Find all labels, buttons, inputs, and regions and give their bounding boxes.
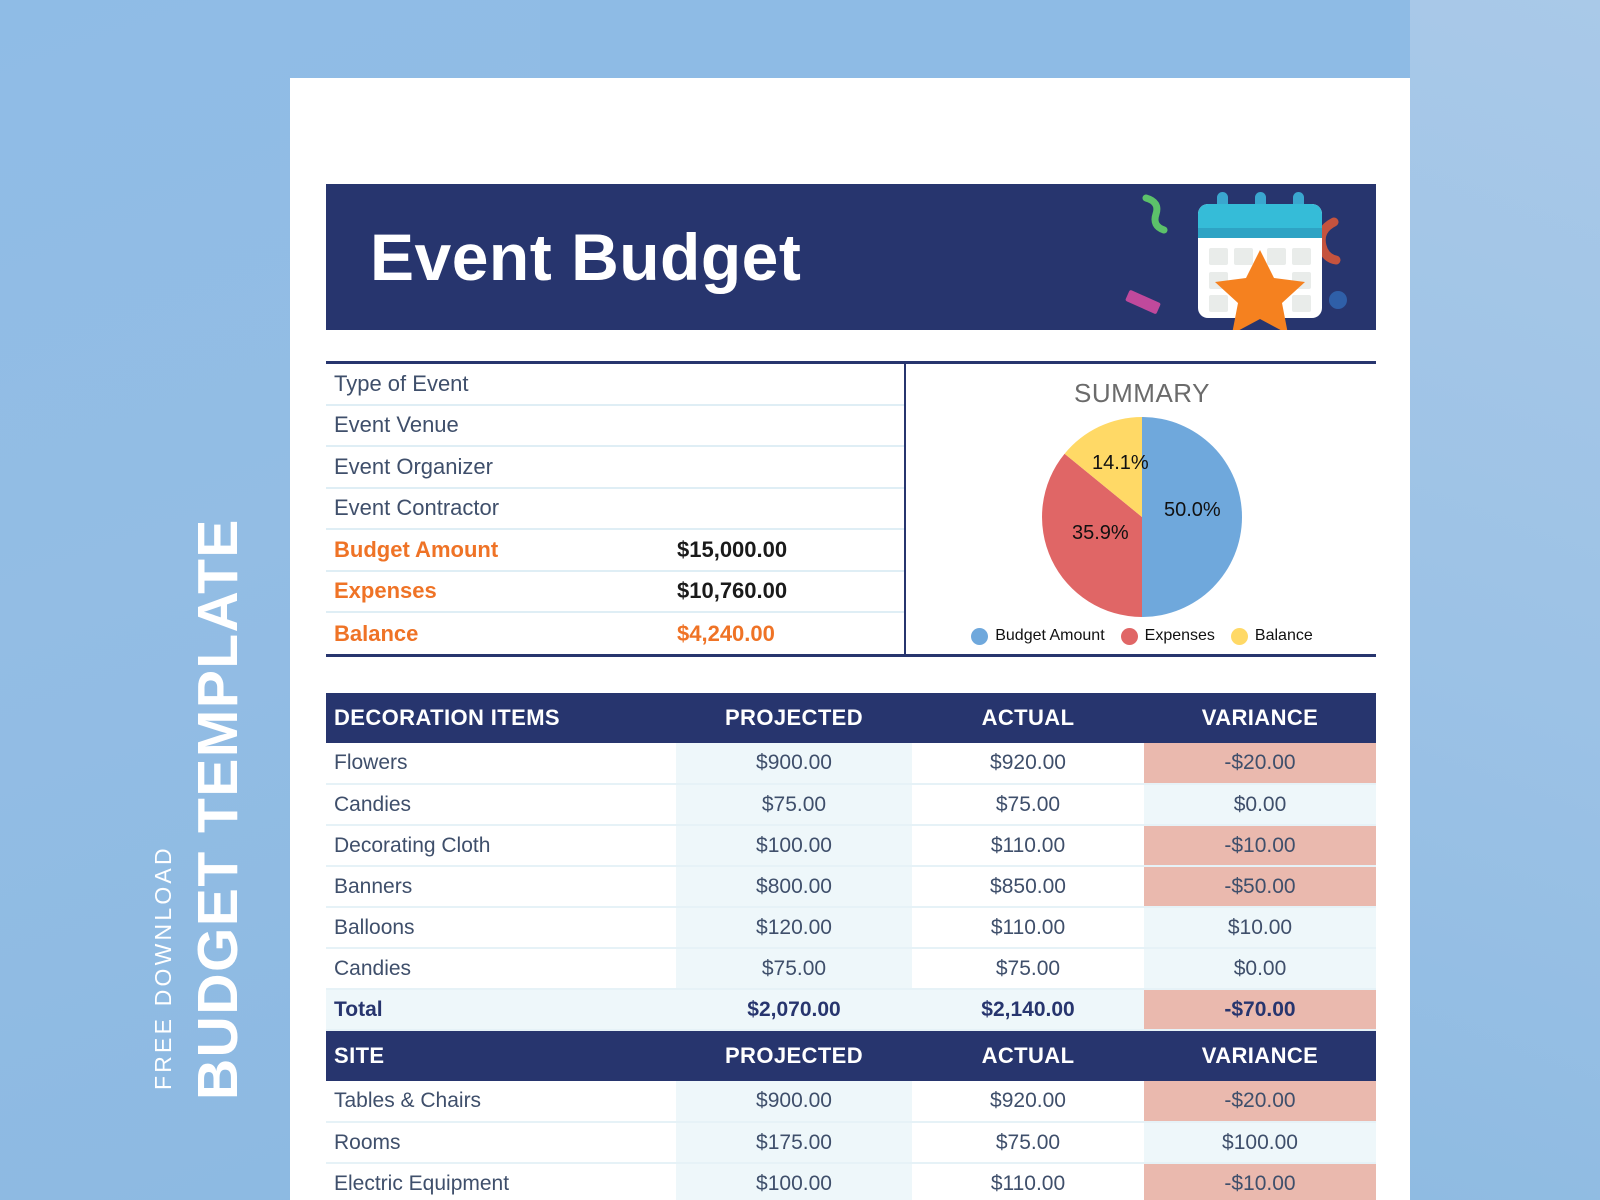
cell-item[interactable]: Electric Equipment (326, 1163, 676, 1200)
table-row[interactable]: Electric Equipment $100.00 $110.00 -$10.… (326, 1163, 1376, 1200)
legend-label: Budget Amount (995, 627, 1104, 645)
pie-value-expenses: 35.9% (1072, 522, 1129, 545)
cell-total-label: Total (326, 989, 676, 1030)
cell-total-projected: $2,070.00 (676, 989, 912, 1030)
info-row[interactable]: Event Contractor (326, 489, 904, 531)
cell-item[interactable]: Balloons (326, 907, 676, 948)
info-row[interactable]: Event Organizer (326, 447, 904, 489)
info-value[interactable]: $4,240.00 (671, 621, 904, 647)
info-label: Event Organizer (326, 454, 671, 480)
column-header-variance: VARIANCE (1144, 1031, 1376, 1081)
cell-variance[interactable]: -$50.00 (1144, 866, 1376, 907)
cell-actual[interactable]: $75.00 (912, 948, 1144, 989)
cell-projected[interactable]: $75.00 (676, 784, 912, 825)
info-value[interactable]: $15,000.00 (671, 537, 904, 563)
table-row[interactable]: Candies $75.00 $75.00 $0.00 (326, 948, 1376, 989)
info-value[interactable]: $10,760.00 (671, 578, 904, 604)
cell-item[interactable]: Rooms (326, 1122, 676, 1163)
cell-variance[interactable]: -$10.00 (1144, 1163, 1376, 1200)
cell-projected[interactable]: $120.00 (676, 907, 912, 948)
pie-value-balance: 14.1% (1092, 452, 1149, 475)
cell-actual[interactable]: $110.00 (912, 825, 1144, 866)
legend-label: Expenses (1145, 627, 1215, 645)
info-label: Event Contractor (326, 495, 671, 521)
legend-item-budget-amount: Budget Amount (971, 627, 1104, 645)
info-row-budget-amount[interactable]: Budget Amount $15,000.00 (326, 530, 904, 572)
chart-legend: Budget Amount Expenses Balance (908, 627, 1376, 645)
cell-item[interactable]: Flowers (326, 743, 676, 784)
cell-projected[interactable]: $100.00 (676, 1163, 912, 1200)
cell-projected[interactable]: $800.00 (676, 866, 912, 907)
info-row[interactable]: Event Venue (326, 406, 904, 448)
cell-actual[interactable]: $920.00 (912, 743, 1144, 784)
table-row[interactable]: Rooms $175.00 $75.00 $100.00 (326, 1122, 1376, 1163)
cell-variance[interactable]: -$10.00 (1144, 825, 1376, 866)
info-label: Expenses (326, 578, 671, 604)
cell-projected[interactable]: $900.00 (676, 1081, 912, 1122)
column-header-actual: ACTUAL (912, 693, 1144, 743)
budget-tables: DECORATION ITEMS PROJECTED ACTUAL VARIAN… (326, 693, 1376, 1200)
column-header-variance: VARIANCE (1144, 693, 1376, 743)
column-header-projected: PROJECTED (676, 693, 912, 743)
cell-variance[interactable]: $100.00 (1144, 1122, 1376, 1163)
info-row-balance[interactable]: Balance $4,240.00 (326, 613, 904, 655)
table-row[interactable]: Decorating Cloth $100.00 $110.00 -$10.00 (326, 825, 1376, 866)
event-info-table: Type of Event Event Venue Event Organize… (326, 364, 906, 654)
legend-item-expenses: Expenses (1121, 627, 1215, 645)
cell-variance[interactable]: -$20.00 (1144, 1081, 1376, 1122)
info-label: Balance (326, 621, 671, 647)
info-label: Event Venue (326, 412, 671, 438)
decoration-items-table: DECORATION ITEMS PROJECTED ACTUAL VARIAN… (326, 693, 1376, 1031)
info-label: Budget Amount (326, 537, 671, 563)
cell-projected[interactable]: $900.00 (676, 743, 912, 784)
cell-item[interactable]: Tables & Chairs (326, 1081, 676, 1122)
table-row[interactable]: Candies $75.00 $75.00 $0.00 (326, 784, 1376, 825)
document-sheet: Event Budget (290, 78, 1410, 1200)
column-header-projected: PROJECTED (676, 1031, 912, 1081)
cell-actual[interactable]: $920.00 (912, 1081, 1144, 1122)
page-title: Event Budget (370, 214, 801, 300)
cell-actual[interactable]: $110.00 (912, 907, 1144, 948)
cell-actual[interactable]: $75.00 (912, 1122, 1144, 1163)
table-row[interactable]: Balloons $120.00 $110.00 $10.00 (326, 907, 1376, 948)
cell-total-variance: -$70.00 (1144, 989, 1376, 1030)
table-row[interactable]: Tables & Chairs $900.00 $920.00 -$20.00 (326, 1081, 1376, 1122)
legend-dot-icon (1121, 628, 1138, 645)
cell-variance[interactable]: $10.00 (1144, 907, 1376, 948)
pie-chart: 50.0% 35.9% 14.1% (1042, 417, 1242, 617)
table-total-row: Total $2,070.00 $2,140.00 -$70.00 (326, 989, 1376, 1030)
calendar-star-icon (1110, 184, 1350, 330)
cell-item[interactable]: Decorating Cloth (326, 825, 676, 866)
legend-dot-icon (1231, 628, 1248, 645)
cell-total-actual: $2,140.00 (912, 989, 1144, 1030)
cell-item[interactable]: Candies (326, 784, 676, 825)
info-row-expenses[interactable]: Expenses $10,760.00 (326, 572, 904, 614)
cell-item[interactable]: Banners (326, 866, 676, 907)
site-table: SITE PROJECTED ACTUAL VARIANCE Tables & … (326, 1031, 1376, 1200)
legend-dot-icon (971, 628, 988, 645)
info-label: Type of Event (326, 371, 671, 397)
cell-projected[interactable]: $175.00 (676, 1122, 912, 1163)
cell-projected[interactable]: $100.00 (676, 825, 912, 866)
table-row[interactable]: Flowers $900.00 $920.00 -$20.00 (326, 743, 1376, 784)
cell-projected[interactable]: $75.00 (676, 948, 912, 989)
table-row[interactable]: Banners $800.00 $850.00 -$50.00 (326, 866, 1376, 907)
summary-chart: SUMMARY 50.0% 35.9% 14.1% Budget Amount (908, 364, 1376, 654)
table-header-row: SITE PROJECTED ACTUAL VARIANCE (326, 1031, 1376, 1081)
column-header-item: SITE (326, 1031, 676, 1081)
cell-item[interactable]: Candies (326, 948, 676, 989)
cell-actual[interactable]: $110.00 (912, 1163, 1144, 1200)
legend-item-balance: Balance (1231, 627, 1313, 645)
background-top-strip (540, 0, 1410, 78)
background-right-panel (1410, 0, 1600, 1200)
cell-variance[interactable]: -$20.00 (1144, 743, 1376, 784)
table-header-row: DECORATION ITEMS PROJECTED ACTUAL VARIAN… (326, 693, 1376, 743)
summary-section: Type of Event Event Venue Event Organize… (326, 361, 1376, 657)
column-header-actual: ACTUAL (912, 1031, 1144, 1081)
column-header-item: DECORATION ITEMS (326, 693, 676, 743)
info-row[interactable]: Type of Event (326, 364, 904, 406)
pie-value-budget-amount: 50.0% (1164, 499, 1221, 522)
cell-variance[interactable]: $0.00 (1144, 784, 1376, 825)
chart-title: SUMMARY (908, 378, 1376, 409)
header-banner: Event Budget (326, 184, 1376, 330)
cell-actual[interactable]: $850.00 (912, 866, 1144, 907)
cell-variance[interactable]: $0.00 (1144, 948, 1376, 989)
legend-label: Balance (1255, 627, 1313, 645)
cell-actual[interactable]: $75.00 (912, 784, 1144, 825)
